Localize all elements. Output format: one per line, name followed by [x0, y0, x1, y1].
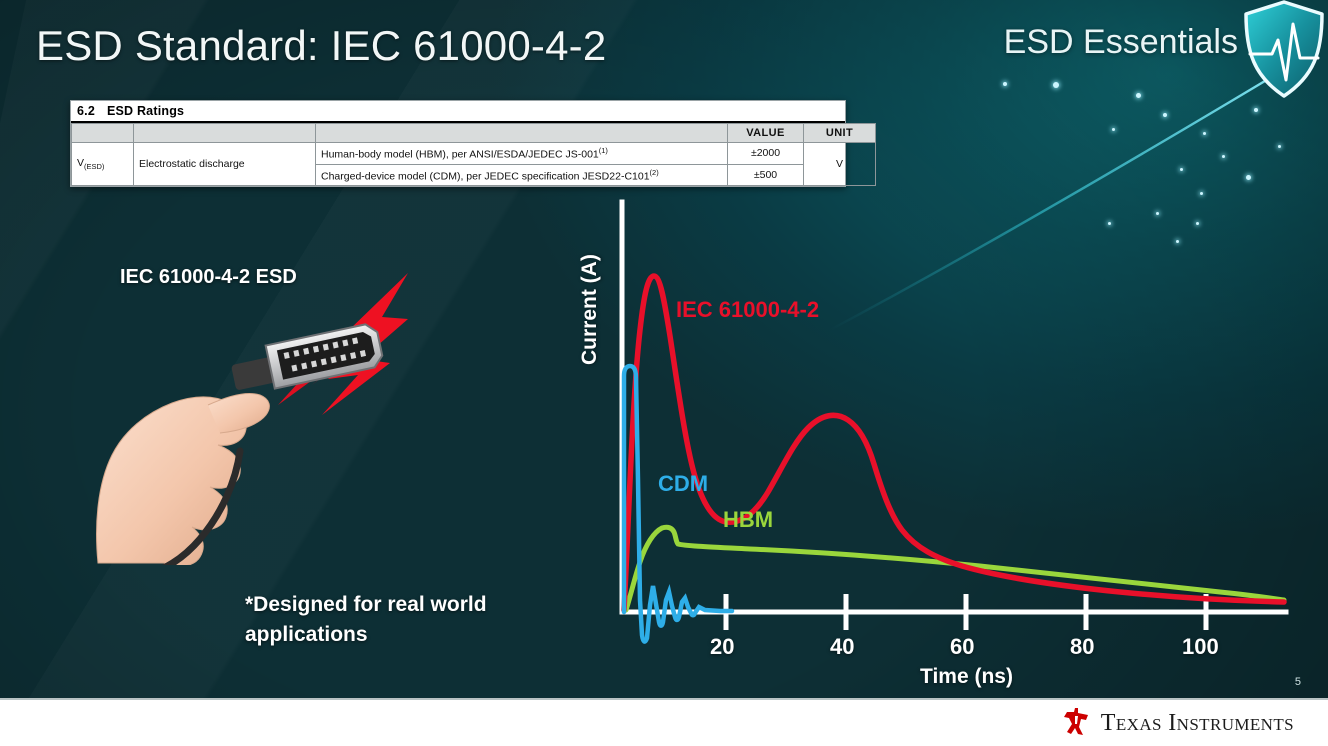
- section-number: 6.2: [77, 104, 95, 118]
- x-tick-label-40: 40: [830, 634, 854, 660]
- chart-x-axis-label: Time (ns): [920, 665, 1013, 689]
- x-tick-label-80: 80: [1070, 634, 1094, 660]
- page-number: 5: [1295, 676, 1301, 688]
- cell-symbol: V(ESD): [72, 143, 134, 186]
- series-cdm-curve: [624, 366, 732, 642]
- esd-ratings-table: 6.2ESD Ratings VALUE UNIT V(ESD) Electro…: [70, 100, 846, 187]
- cell-test-condition-hbm: Human-body model (HBM), per ANSI/ESDA/JE…: [316, 143, 728, 165]
- x-tick-label-20: 20: [710, 634, 734, 660]
- star-particle: [1003, 82, 1007, 86]
- test-text-hbm: Human-body model (HBM), per ANSI/ESDA/JE…: [321, 149, 599, 161]
- series-iec-curve: [624, 276, 1284, 610]
- company-name: Texas Instruments: [1101, 710, 1294, 737]
- brand-label: ESD Essentials: [1004, 23, 1238, 62]
- ti-texas-mark-icon: [1062, 707, 1092, 739]
- star-particle: [1112, 128, 1115, 131]
- texas-instruments-logo-icon: Texas Instruments: [1062, 707, 1294, 739]
- x-tick-label-100: 100: [1182, 634, 1219, 660]
- series-label-cdm: CDM: [658, 471, 708, 496]
- x-tick-label-60: 60: [950, 634, 974, 660]
- chart-y-axis-label: Current (A): [578, 254, 602, 365]
- star-particle: [1163, 113, 1167, 117]
- cell-parameter: Electrostatic discharge: [134, 143, 316, 186]
- star-particle: [1254, 108, 1258, 112]
- page-title: ESD Standard: IEC 61000-4-2: [36, 22, 606, 70]
- symbol-subscript: (ESD): [84, 162, 104, 171]
- note-line-2: applications: [245, 623, 368, 646]
- column-header-unit: UNIT: [804, 124, 876, 143]
- shield-pulse-icon: [1238, 0, 1328, 106]
- symbol-base: V: [77, 157, 84, 169]
- esd-waveform-chart: IEC 61000-4-2 CDM HBM: [560, 180, 1328, 700]
- table-section-heading: 6.2ESD Ratings: [71, 101, 845, 123]
- star-particle: [1222, 155, 1225, 158]
- series-label-iec: IEC 61000-4-2: [676, 297, 819, 322]
- column-header-blank-3: [316, 124, 728, 143]
- column-header-value: VALUE: [728, 124, 804, 143]
- star-particle: [1136, 93, 1141, 98]
- table-row: V(ESD) Electrostatic discharge Human-bod…: [72, 143, 876, 165]
- series-label-hbm: HBM: [723, 507, 773, 532]
- chart-axes: [622, 202, 1286, 612]
- note-line-1: *Designed for real world: [245, 593, 487, 616]
- hdmi-connector: [228, 322, 384, 396]
- footnote-marker-2: (2): [650, 168, 659, 177]
- column-header-blank-1: [72, 124, 134, 143]
- footnote-marker-1: (1): [599, 146, 608, 155]
- slide-footer: Texas Instruments: [0, 698, 1328, 746]
- star-particle: [1180, 168, 1183, 171]
- cell-value-hbm: ±2000: [728, 143, 804, 165]
- star-particle: [1278, 145, 1281, 148]
- star-particle: [1053, 82, 1059, 88]
- column-header-blank-2: [134, 124, 316, 143]
- slide: ESD Standard: IEC 61000-4-2 ESD Essentia…: [0, 0, 1328, 746]
- designed-note: *Designed for real world applications: [245, 590, 575, 651]
- star-particle: [1203, 132, 1206, 135]
- table-header-row: VALUE UNIT: [72, 124, 876, 143]
- section-title: ESD Ratings: [107, 104, 184, 118]
- hand-holding-hdmi-connector-icon: [90, 255, 440, 565]
